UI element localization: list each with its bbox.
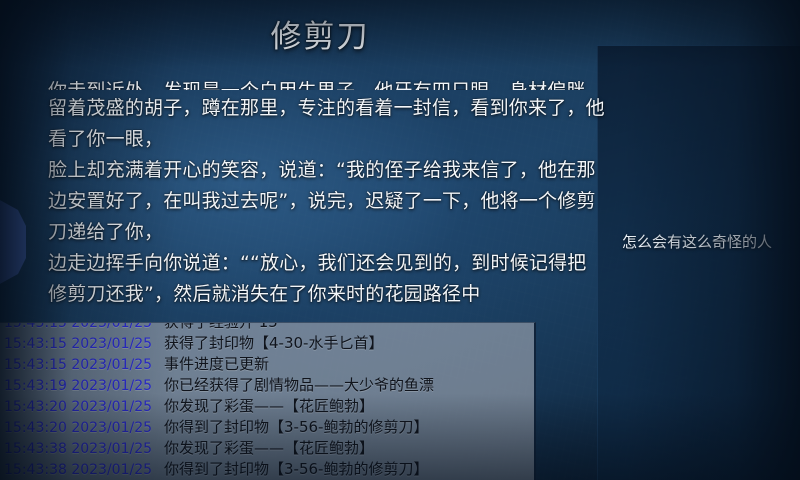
log-row: 15:43:15 2023/01/25 事件进度已更新	[0, 354, 534, 375]
narrative-text-block: 你走到近处，发现是一个白甲牛男子，他牙有四只眼，身材偏胖， 留着茂盛的胡子，蹲在…	[48, 93, 604, 310]
narrative-line: 边走边挥手向你说道：““放心，我们还会见到的，到时候记得把	[48, 248, 604, 279]
hexagon-badge-icon	[0, 192, 28, 290]
narrative-line: 修剪刀还我”，然后就消失在了你来时的花园路径中	[48, 279, 604, 310]
log-row: 15:43:38 2023/01/25 你发现了彩蛋——【花匠鲍勃】	[0, 438, 534, 459]
narrative-line: 脸上却充满着开心的笑容，说道：“我的侄子给我来信了，他在那	[48, 155, 604, 186]
game-screen: 修剪刀 你走到近处，发现是一个白甲牛男子，他牙有四只眼，身材偏胖， 留着茂盛的胡…	[0, 0, 800, 480]
narrative-line: 看了你一眼，	[48, 124, 604, 155]
log-row: 15:43:20 2023/01/25 你得到了封印物【3-56-鲍勃的修剪刀】	[0, 417, 534, 438]
log-message: 你得到了封印物【3-56-鲍勃的修剪刀】	[164, 417, 428, 438]
log-message: 获得了封印物【4-30-水手匕首】	[164, 333, 383, 354]
log-row: 15:43:20 2023/01/25 你发现了彩蛋——【花匠鲍勃】	[0, 396, 534, 417]
narrative-line: 边安置好了，在叫我过去呢”，说完，迟疑了一下，他将一个修剪	[48, 186, 604, 217]
log-timestamp: 15:43:15 2023/01/25	[4, 334, 154, 355]
log-timestamp: 15:43:19 2023/01/25	[4, 376, 154, 397]
log-timestamp: 15:43:20 2023/01/25	[4, 397, 154, 418]
narrative-line: 你走到近处，发现是一个白甲牛男子，他牙有四只眼，身材偏胖，	[48, 76, 604, 90]
log-timestamp: 15:43:20 2023/01/25	[4, 418, 154, 439]
narrative-line: 留着茂盛的胡子，蹲在那里，专注的看着一封信，看到你来了，他	[48, 93, 604, 124]
log-row: 15:43:15 2023/01/25 获得了封印物【4-30-水手匕首】	[0, 333, 534, 354]
log-row: 15:43:15 2023/01/25 获得了经验开 15	[0, 322, 534, 333]
event-log-list[interactable]: 15:43:15 2023/01/25 获得了经验开 15 15:43:15 2…	[0, 322, 534, 480]
event-log-panel[interactable]: 15:43:15 2023/01/25 获得了经验开 15 15:43:15 2…	[0, 322, 536, 480]
log-message: 你发现了彩蛋——【花匠鲍勃】	[164, 438, 374, 459]
log-timestamp: 15:43:15 2023/01/25	[4, 322, 154, 334]
narrative-line: 刀递给了你，	[48, 217, 604, 248]
log-row: 15:43:19 2023/01/25 你已经获得了剧情物品——大少爷的鱼漂	[0, 375, 534, 396]
log-timestamp: 15:43:38 2023/01/25	[4, 460, 154, 480]
log-message: 获得了经验开 15	[164, 322, 278, 333]
log-row: 15:43:38 2023/01/25 你得到了封印物【3-56-鲍勃的修剪刀】	[0, 459, 534, 480]
log-message: 你已经获得了剧情物品——大少爷的鱼漂	[164, 375, 434, 396]
log-message: 你发现了彩蛋——【花匠鲍勃】	[164, 396, 374, 417]
right-side-panel	[597, 45, 800, 480]
log-timestamp: 15:43:15 2023/01/25	[4, 355, 154, 376]
side-caption-text: 怎么会有这么奇怪的人	[622, 231, 792, 253]
log-message: 事件进度已更新	[164, 354, 269, 375]
page-title: 修剪刀	[0, 17, 640, 57]
log-timestamp: 15:43:38 2023/01/25	[4, 439, 154, 460]
log-message: 你得到了封印物【3-56-鲍勃的修剪刀】	[164, 459, 428, 480]
